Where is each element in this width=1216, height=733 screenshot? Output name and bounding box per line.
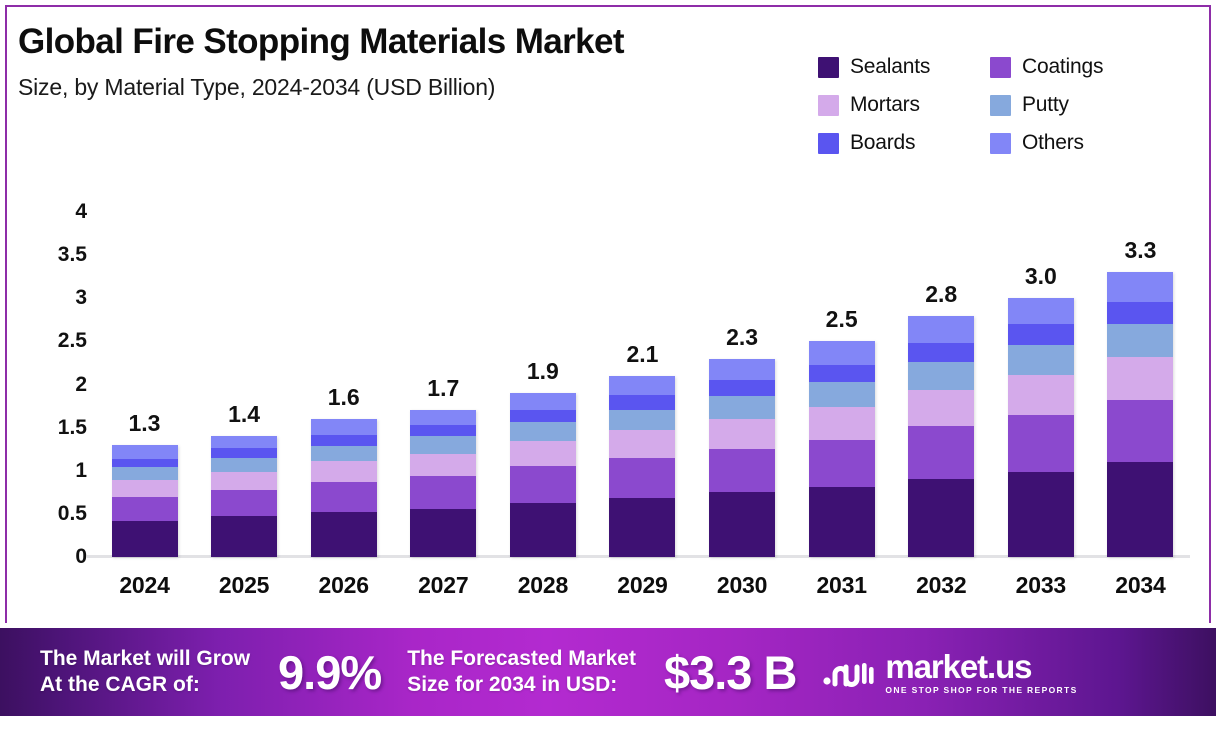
cagr-value: 9.9% xyxy=(278,645,381,700)
bar-segment-boards[interactable] xyxy=(112,459,178,468)
page-subtitle: Size, by Material Type, 2024-2034 (USD B… xyxy=(18,74,798,101)
legend-item-label: Putty xyxy=(1022,93,1069,117)
bar-column[interactable]: 1.6 xyxy=(294,212,393,557)
bar-stack[interactable] xyxy=(609,376,675,557)
bar-segment-coatings[interactable] xyxy=(809,440,875,487)
bar-segment-sealants[interactable] xyxy=(1107,462,1173,557)
bar-segment-boards[interactable] xyxy=(410,425,476,436)
legend-item-boards[interactable]: Boards xyxy=(818,131,990,155)
bar-segment-putty[interactable] xyxy=(311,446,377,462)
bar-segment-coatings[interactable] xyxy=(211,490,277,517)
legend-item-sealants[interactable]: Sealants xyxy=(818,55,990,79)
market-us-logo-text: market.us ONE STOP SHOP FOR THE REPORTS xyxy=(885,650,1077,695)
bar-segment-others[interactable] xyxy=(1107,272,1173,301)
x-axis-tick: 2030 xyxy=(693,572,792,599)
bar-segment-putty[interactable] xyxy=(709,396,775,419)
y-axis-tick: 3.5 xyxy=(58,243,87,267)
bar-segment-boards[interactable] xyxy=(709,380,775,396)
bar-segment-putty[interactable] xyxy=(809,382,875,407)
legend-item-putty[interactable]: Putty xyxy=(990,93,1170,117)
bar-column[interactable]: 2.8 xyxy=(892,212,991,557)
bar-segment-coatings[interactable] xyxy=(112,497,178,521)
bar-segment-others[interactable] xyxy=(510,393,576,409)
bar-total-label: 1.7 xyxy=(394,375,493,402)
legend-swatch-icon xyxy=(818,57,839,78)
bar-segment-putty[interactable] xyxy=(1008,345,1074,375)
bar-segment-mortars[interactable] xyxy=(510,441,576,466)
bar-segment-others[interactable] xyxy=(709,359,775,381)
x-axis-tick: 2027 xyxy=(394,572,493,599)
bar-stack[interactable] xyxy=(1107,272,1173,557)
cagr-label-line1: The Market will Grow xyxy=(40,647,250,670)
y-axis-tick: 2.5 xyxy=(58,329,87,353)
legend-swatch-icon xyxy=(990,133,1011,154)
bar-stack[interactable] xyxy=(709,359,775,557)
cagr-label-line2: At the CAGR of: xyxy=(40,672,250,698)
chart-legend: SealantsCoatingsMortarsPuttyBoardsOthers xyxy=(818,48,1198,162)
bar-stack[interactable] xyxy=(1008,298,1074,557)
bar-total-label: 2.3 xyxy=(693,324,792,351)
infographic-root: Global Fire Stopping Materials Market Si… xyxy=(0,0,1216,733)
legend-item-label: Mortars xyxy=(850,93,920,117)
x-axis-tick: 2025 xyxy=(195,572,294,599)
legend-item-mortars[interactable]: Mortars xyxy=(818,93,990,117)
bar-segment-sealants[interactable] xyxy=(410,509,476,557)
bar-segment-mortars[interactable] xyxy=(908,390,974,426)
bar-segment-putty[interactable] xyxy=(510,422,576,441)
bar-segment-mortars[interactable] xyxy=(709,419,775,449)
bar-segment-sealants[interactable] xyxy=(112,521,178,557)
bar-segment-others[interactable] xyxy=(609,376,675,395)
x-axis-tick: 2031 xyxy=(792,572,891,599)
legend-item-label: Others xyxy=(1022,131,1084,155)
bar-segment-boards[interactable] xyxy=(609,395,675,410)
x-axis-tick: 2032 xyxy=(892,572,991,599)
market-us-logo-mark xyxy=(822,654,874,690)
bar-segment-others[interactable] xyxy=(410,410,476,425)
bar-segment-sealants[interactable] xyxy=(1008,472,1074,557)
bar-column[interactable]: 1.9 xyxy=(493,212,592,557)
x-axis-tick: 2028 xyxy=(493,572,592,599)
legend-item-label: Coatings xyxy=(1022,55,1103,79)
legend-swatch-icon xyxy=(990,95,1011,116)
legend-swatch-icon xyxy=(818,133,839,154)
bar-stack[interactable] xyxy=(510,393,576,557)
bar-total-label: 3.3 xyxy=(1091,237,1190,264)
bar-total-label: 2.5 xyxy=(792,306,891,333)
bar-total-label: 1.9 xyxy=(493,358,592,385)
bar-total-label: 1.6 xyxy=(294,384,393,411)
legend-swatch-icon xyxy=(818,95,839,116)
x-axis: 2024202520262027202820292030203120322033… xyxy=(95,572,1190,599)
bar-segment-coatings[interactable] xyxy=(908,426,974,479)
bar-segment-coatings[interactable] xyxy=(510,466,576,502)
y-axis-tick: 0 xyxy=(75,545,87,569)
bar-column[interactable]: 1.4 xyxy=(195,212,294,557)
bar-segment-putty[interactable] xyxy=(112,467,178,480)
bar-segment-others[interactable] xyxy=(112,445,178,459)
bar-column[interactable]: 3.3 xyxy=(1091,212,1190,557)
bar-stack[interactable] xyxy=(211,436,277,557)
bar-segment-boards[interactable] xyxy=(809,365,875,382)
bar-segment-mortars[interactable] xyxy=(1008,375,1074,415)
header: Global Fire Stopping Materials Market Si… xyxy=(18,22,798,101)
bar-segment-others[interactable] xyxy=(1008,298,1074,324)
bar-segment-others[interactable] xyxy=(809,341,875,364)
bar-segment-mortars[interactable] xyxy=(410,454,476,476)
bar-group: 1.31.41.61.71.92.12.32.52.83.03.3 xyxy=(95,212,1190,557)
bar-stack[interactable] xyxy=(809,341,875,557)
bar-column[interactable]: 1.7 xyxy=(394,212,493,557)
bar-segment-mortars[interactable] xyxy=(809,407,875,440)
logo-tagline: ONE STOP SHOP FOR THE REPORTS xyxy=(885,686,1077,695)
bar-segment-sealants[interactable] xyxy=(809,487,875,557)
page-title: Global Fire Stopping Materials Market xyxy=(18,22,798,62)
legend-item-others[interactable]: Others xyxy=(990,131,1170,155)
bar-segment-mortars[interactable] xyxy=(211,472,277,490)
bar-stack[interactable] xyxy=(410,410,476,557)
y-axis-tick: 1 xyxy=(75,459,87,483)
y-axis-tick: 4 xyxy=(75,200,87,224)
bar-segment-mortars[interactable] xyxy=(1107,357,1173,400)
bar-segment-boards[interactable] xyxy=(211,448,277,457)
bar-stack[interactable] xyxy=(112,445,178,557)
bar-segment-putty[interactable] xyxy=(1107,324,1173,357)
cagr-label: The Market will Grow At the CAGR of: xyxy=(40,646,250,699)
bar-column[interactable]: 1.3 xyxy=(95,212,194,557)
x-axis-tick: 2033 xyxy=(991,572,1090,599)
bar-total-label: 2.8 xyxy=(892,281,991,308)
bar-segment-others[interactable] xyxy=(908,316,974,344)
forecast-label-line2: Size for 2034 in USD: xyxy=(407,672,636,698)
y-axis: 00.511.522.533.54 xyxy=(35,212,87,557)
y-axis-tick: 0.5 xyxy=(58,502,87,526)
bar-segment-coatings[interactable] xyxy=(1008,415,1074,472)
x-axis-tick: 2034 xyxy=(1091,572,1190,599)
y-axis-tick: 1.5 xyxy=(58,416,87,440)
bar-segment-sealants[interactable] xyxy=(609,498,675,558)
bar-segment-sealants[interactable] xyxy=(211,516,277,557)
bar-segment-boards[interactable] xyxy=(1107,302,1173,324)
forecast-label-line1: The Forecasted Market xyxy=(407,647,636,670)
bar-segment-boards[interactable] xyxy=(311,435,377,445)
bar-segment-sealants[interactable] xyxy=(510,503,576,557)
forecast-value: $3.3 B xyxy=(664,645,796,700)
bar-column[interactable]: 3.0 xyxy=(991,212,1090,557)
x-axis-tick: 2026 xyxy=(294,572,393,599)
bar-segment-mortars[interactable] xyxy=(609,430,675,458)
bar-stack[interactable] xyxy=(908,316,974,557)
bar-segment-others[interactable] xyxy=(211,436,277,448)
bar-segment-sealants[interactable] xyxy=(709,492,775,557)
bar-total-label: 2.1 xyxy=(593,341,692,368)
forecast-label: The Forecasted Market Size for 2034 in U… xyxy=(407,646,636,699)
summary-banner: The Market will Grow At the CAGR of: 9.9… xyxy=(0,628,1216,716)
bar-segment-mortars[interactable] xyxy=(112,480,178,496)
bar-segment-coatings[interactable] xyxy=(609,458,675,498)
x-axis-tick: 2024 xyxy=(95,572,194,599)
bar-segment-others[interactable] xyxy=(311,419,377,435)
market-us-logo[interactable]: market.us ONE STOP SHOP FOR THE REPORTS xyxy=(822,650,1077,695)
bar-segment-coatings[interactable] xyxy=(709,449,775,492)
bar-column[interactable]: 2.3 xyxy=(693,212,792,557)
y-axis-tick: 3 xyxy=(75,286,87,310)
x-axis-tick: 2029 xyxy=(593,572,692,599)
plot-area: 00.511.522.533.54 1.31.41.61.71.92.12.32… xyxy=(95,212,1190,557)
y-axis-tick: 2 xyxy=(75,373,87,397)
bar-segment-boards[interactable] xyxy=(908,343,974,362)
bar-segment-putty[interactable] xyxy=(908,362,974,390)
legend-item-label: Boards xyxy=(850,131,915,155)
bar-total-label: 3.0 xyxy=(991,263,1090,290)
bar-total-label: 1.4 xyxy=(195,401,294,428)
legend-swatch-icon xyxy=(990,57,1011,78)
bar-column[interactable]: 2.5 xyxy=(792,212,891,557)
bar-segment-mortars[interactable] xyxy=(311,461,377,482)
bar-segment-coatings[interactable] xyxy=(311,482,377,512)
bar-segment-boards[interactable] xyxy=(1008,324,1074,345)
logo-name: market.us xyxy=(885,650,1077,683)
bar-total-label: 1.3 xyxy=(95,410,194,437)
bar-segment-coatings[interactable] xyxy=(1107,400,1173,462)
bar-segment-putty[interactable] xyxy=(609,410,675,431)
bar-segment-sealants[interactable] xyxy=(311,512,377,557)
bar-column[interactable]: 2.1 xyxy=(593,212,692,557)
bar-segment-boards[interactable] xyxy=(510,410,576,423)
bar-segment-putty[interactable] xyxy=(211,458,277,472)
legend-item-label: Sealants xyxy=(850,55,930,79)
bar-segment-sealants[interactable] xyxy=(908,479,974,557)
bar-stack[interactable] xyxy=(311,419,377,557)
bar-segment-coatings[interactable] xyxy=(410,476,476,509)
legend-item-coatings[interactable]: Coatings xyxy=(990,55,1170,79)
bar-segment-putty[interactable] xyxy=(410,436,476,453)
